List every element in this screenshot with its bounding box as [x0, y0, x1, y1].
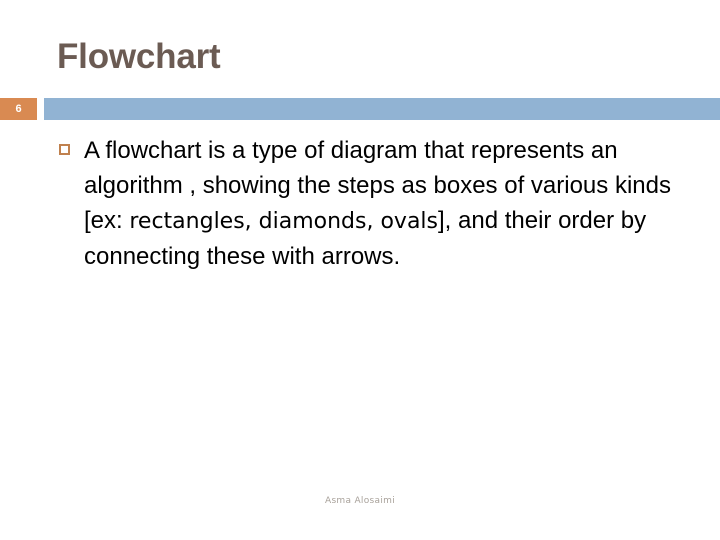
- footer-author: Asma Alosaimi: [0, 496, 720, 506]
- slide-canvas: Flowchart 6 A flowchart is a type of dia…: [0, 0, 720, 540]
- divider-rule: [44, 98, 720, 120]
- hollow-square-bullet-icon: [59, 144, 70, 155]
- slide-number-badge: 6: [0, 98, 37, 120]
- content-body: A flowchart is a type of diagram that re…: [57, 133, 693, 274]
- list-item-text: A flowchart is a type of diagram that re…: [84, 133, 693, 274]
- title-divider-band: 6: [0, 98, 720, 120]
- page-title: Flowchart: [57, 36, 221, 78]
- body-text-emphasis: rectangles, diamonds, ovals: [129, 209, 438, 234]
- list-item: A flowchart is a type of diagram that re…: [57, 133, 693, 274]
